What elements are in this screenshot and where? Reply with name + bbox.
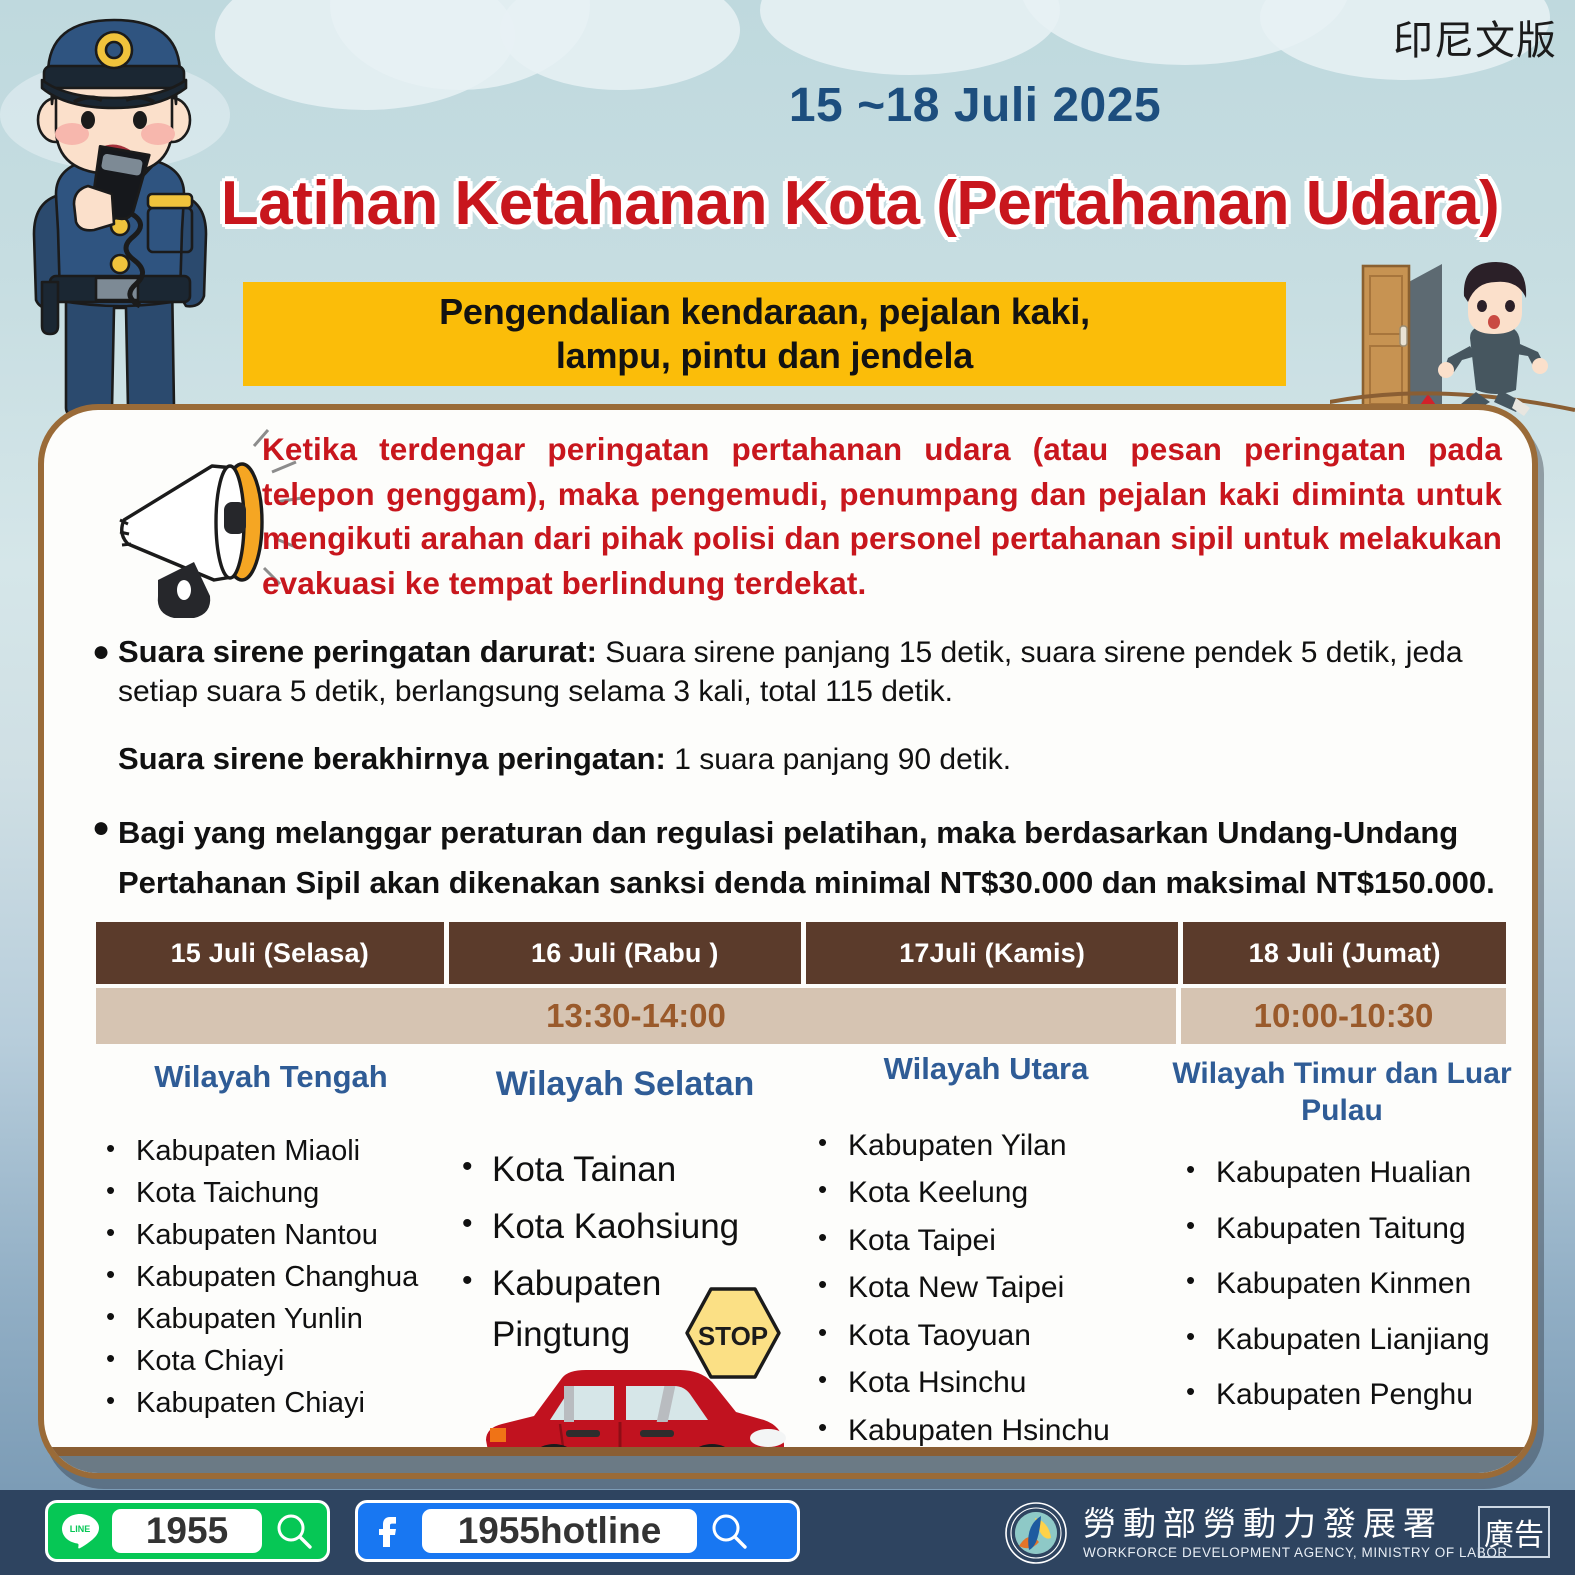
list-item: •Kabupaten Penghu xyxy=(1186,1373,1512,1417)
region-title-south: Wilayah Selatan xyxy=(450,1050,800,1105)
list-item: •Kabupaten Lianjiang xyxy=(1186,1318,1512,1362)
list-bullet-icon: • xyxy=(1186,1262,1216,1300)
date-range: 15 ~18 Juli 2025 xyxy=(430,78,1520,133)
line-contact-button[interactable]: LINE 1955 xyxy=(45,1500,330,1562)
search-icon[interactable] xyxy=(709,1511,749,1551)
list-item: •Kota Hsinchu xyxy=(818,1361,1172,1405)
list-bullet-icon: • xyxy=(818,1314,848,1352)
list-bullet-icon: • xyxy=(106,1130,136,1168)
table-header-day-2: 16 Juli (Rabu ) xyxy=(449,922,801,984)
region-column-north: Wilayah Utara •Kabupaten Yilan •Kota Kee… xyxy=(800,1050,1172,1456)
list-item: •Kota Taichung xyxy=(106,1172,450,1214)
table-header-day-4: 18 Juli (Jumat) xyxy=(1183,922,1506,984)
list-bullet-icon: • xyxy=(106,1382,136,1420)
list-item: •Kabupaten Taitung xyxy=(1186,1207,1512,1251)
list-item: •Kabupaten Kinmen xyxy=(1186,1262,1512,1306)
list-item: •Kabupaten Changhua xyxy=(106,1256,450,1298)
line-icon: LINE xyxy=(60,1511,100,1551)
list-item: •Kota Tainan xyxy=(462,1145,800,1196)
list-item: •Kota New Taipei xyxy=(818,1266,1172,1310)
list-bullet-icon: • xyxy=(106,1340,136,1378)
list-item: •Kota Taipei xyxy=(818,1219,1172,1263)
list-item: •Kabupaten Hsinchu xyxy=(818,1409,1172,1453)
table-header-row: 15 Juli (Selasa) 16 Juli (Rabu ) 17Juli … xyxy=(96,922,1506,984)
list-bullet-icon: • xyxy=(1186,1207,1216,1245)
list-item: •Kota Chiayi xyxy=(106,1340,450,1382)
region-title-north: Wilayah Utara xyxy=(800,1050,1172,1088)
subtitle-banner: Pengendalian kendaraan, pejalan kaki, la… xyxy=(243,282,1286,386)
list-item: •Kabupaten Miaoli xyxy=(106,1130,450,1172)
list-bullet-icon: • xyxy=(106,1256,136,1294)
language-badge: 印尼文版 xyxy=(1393,8,1557,66)
cloud-icon xyxy=(500,0,740,90)
agency-branding: 勞動部勞動力發展署 WORKFORCE DEVELOPMENT AGENCY, … xyxy=(1005,1502,1508,1564)
list-bullet-icon: • xyxy=(462,1145,492,1189)
content-card: Ketika terdengar peringatan pertahanan u… xyxy=(38,404,1538,1479)
list-bullet-icon: • xyxy=(818,1409,848,1447)
list-item: •Kabupaten Yilan xyxy=(818,1124,1172,1168)
region-columns: Wilayah Tengah •Kabupaten Miaoli •Kota T… xyxy=(92,1050,1512,1456)
bullet-item-siren-end: Suara sirene berakhirnya peringatan: 1 s… xyxy=(92,739,1512,779)
facebook-icon xyxy=(370,1511,410,1551)
agency-name-cn: 勞動部勞動力發展署 xyxy=(1083,1506,1508,1542)
list-bullet-icon: • xyxy=(818,1361,848,1399)
schedule-table: 15 Juli (Selasa) 16 Juli (Rabu ) 17Juli … xyxy=(96,922,1506,1044)
bullet-dot-icon: ● xyxy=(92,632,118,673)
list-bullet-icon: • xyxy=(1186,1318,1216,1356)
bullet-item-siren: ● Suara sirene peringatan darurat: Suara… xyxy=(92,632,1512,711)
list-bullet-icon: • xyxy=(462,1259,492,1303)
bullet-dot-icon: ● xyxy=(92,808,118,849)
list-bullet-icon: • xyxy=(106,1298,136,1336)
region-column-east-islands: Wilayah Timur dan Luar Pulau •Kabupaten … xyxy=(1172,1050,1512,1456)
police-officer-illustration xyxy=(8,8,248,428)
list-bullet-icon: • xyxy=(462,1202,492,1246)
list-bullet-icon: • xyxy=(818,1266,848,1304)
cloud-icon xyxy=(760,0,1060,75)
list-item: •Kabupaten Chiayi xyxy=(106,1382,450,1424)
siren-label: Suara sirene peringatan darurat: xyxy=(118,634,597,669)
table-time-row: 13:30-14:00 10:00-10:30 xyxy=(96,988,1506,1044)
list-item: •Kabupaten Nantou xyxy=(106,1214,450,1256)
list-item: •Kota Kaohsiung xyxy=(462,1202,800,1253)
siren-end-text: 1 suara panjang 90 detik. xyxy=(666,743,1011,776)
list-item: •Kabupaten Hualian xyxy=(1186,1151,1512,1195)
table-header-day-3: 17Juli (Kamis) xyxy=(806,922,1178,984)
region-title-east-islands: Wilayah Timur dan Luar Pulau xyxy=(1172,1050,1512,1129)
siren-end-label: Suara sirene berakhirnya peringatan: xyxy=(118,741,666,776)
region-list-north: •Kabupaten Yilan •Kota Keelung •Kota Tai… xyxy=(800,1124,1172,1453)
list-bullet-icon: • xyxy=(818,1171,848,1209)
road-strip xyxy=(44,1447,1538,1473)
list-item: •Kota Taoyuan xyxy=(818,1314,1172,1358)
list-bullet-icon: • xyxy=(106,1214,136,1252)
search-icon[interactable] xyxy=(274,1511,314,1551)
table-time-last: 10:00-10:30 xyxy=(1181,988,1506,1044)
list-bullet-icon: • xyxy=(1186,1151,1216,1189)
region-list-east-islands: •Kabupaten Hualian •Kabupaten Taitung •K… xyxy=(1172,1151,1512,1417)
warning-paragraph: Ketika terdengar peringatan pertahanan u… xyxy=(262,427,1502,606)
region-list-central: •Kabupaten Miaoli •Kota Taichung •Kabupa… xyxy=(92,1130,450,1424)
curb-strip xyxy=(44,1447,1538,1456)
advertisement-badge: 廣告 xyxy=(1478,1506,1550,1558)
region-column-south: Wilayah Selatan •Kota Tainan •Kota Kaohs… xyxy=(450,1050,800,1456)
region-title-central: Wilayah Tengah xyxy=(92,1050,450,1096)
bullets-section: ● Suara sirene peringatan darurat: Suara… xyxy=(92,632,1512,908)
list-bullet-icon: • xyxy=(818,1124,848,1162)
page-title: Latihan Ketahanan Kota (Pertahanan Udara… xyxy=(150,168,1570,239)
penalty-text: Bagi yang melanggar peraturan dan regula… xyxy=(118,808,1512,908)
list-bullet-icon: • xyxy=(106,1172,136,1210)
svg-text:LINE: LINE xyxy=(70,1524,91,1534)
list-item: •Kabupaten Yunlin xyxy=(106,1298,450,1340)
agency-name-en: WORKFORCE DEVELOPMENT AGENCY, MINISTRY O… xyxy=(1083,1545,1508,1560)
list-bullet-icon: • xyxy=(818,1219,848,1257)
stop-sign-label: STOP xyxy=(698,1321,768,1351)
table-header-day-1: 15 Juli (Selasa) xyxy=(96,922,444,984)
list-bullet-icon: • xyxy=(1186,1373,1216,1411)
list-item: •Kota Keelung xyxy=(818,1171,1172,1215)
facebook-page-value: 1955hotline xyxy=(422,1509,697,1553)
subtitle-line-2: lampu, pintu dan jendela xyxy=(556,334,973,378)
facebook-contact-button[interactable]: 1955hotline xyxy=(355,1500,800,1562)
line-id-value: 1955 xyxy=(112,1509,262,1553)
table-time-main: 13:30-14:00 xyxy=(96,988,1176,1044)
region-column-central: Wilayah Tengah •Kabupaten Miaoli •Kota T… xyxy=(92,1050,450,1456)
bullet-item-penalty: ● Bagi yang melanggar peraturan dan regu… xyxy=(92,808,1512,908)
agency-logo-icon xyxy=(1005,1502,1067,1564)
subtitle-line-1: Pengendalian kendaraan, pejalan kaki, xyxy=(439,290,1090,334)
footer-bar: LINE 1955 1955hotline 勞動部勞動力發展署 xyxy=(0,1490,1575,1575)
